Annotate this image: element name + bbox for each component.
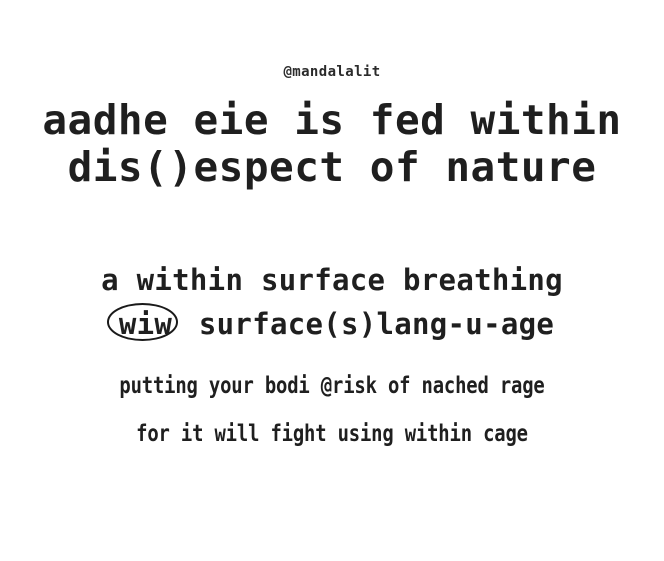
stanza-middle-line-2: wiw surface(s)lang-u-age bbox=[0, 302, 664, 346]
circled-word-wiw: wiw bbox=[110, 302, 181, 346]
poem-canvas: @mandalalit aadhe eie is fed within dis(… bbox=[0, 0, 664, 561]
stanza-lower-line-2: for it will fight using within cage bbox=[60, 410, 604, 458]
headline-block: aadhe eie is fed within dis()espect of n… bbox=[0, 97, 664, 191]
headline-line-2: dis()espect of nature bbox=[0, 144, 664, 191]
headline-line-1: aadhe eie is fed within bbox=[0, 97, 664, 144]
circled-word-label: wiw bbox=[119, 307, 172, 341]
stanza-middle-block: a within surface breathing wiw surface(s… bbox=[0, 258, 664, 346]
stanza-middle-line-2-rest: surface(s)lang-u-age bbox=[181, 307, 554, 341]
author-handle: @mandalalit bbox=[0, 64, 664, 80]
stanza-middle-line-1: a within surface breathing bbox=[0, 258, 664, 302]
stanza-lower-block: putting your bodi @risk of nached rage f… bbox=[0, 362, 664, 458]
stanza-lower-line-1: putting your bodi @risk of nached rage bbox=[60, 362, 604, 410]
